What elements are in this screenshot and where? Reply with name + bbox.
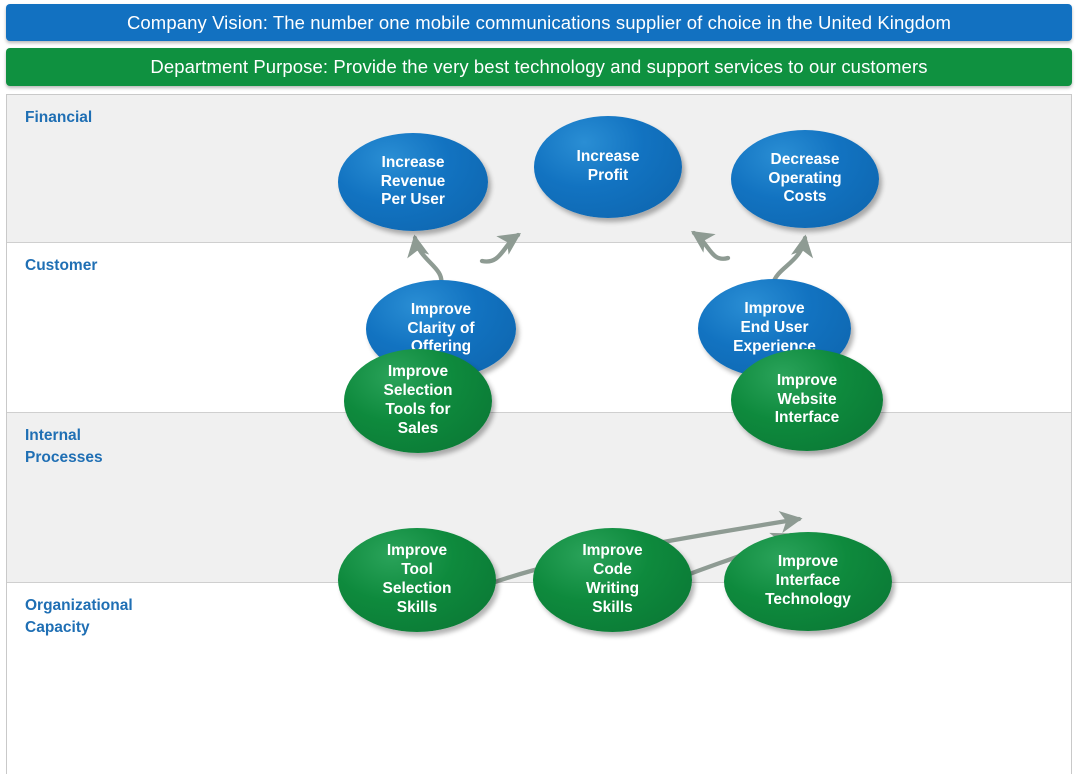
objective-label: Improve Tool Selection Skills [375, 542, 460, 618]
perspective-label-internal-processes: Internal Processes [25, 425, 103, 470]
company-vision-text: Company Vision: The number one mobile co… [127, 12, 951, 34]
objective-improve-selection-tools-for-sales[interactable]: Improve Selection Tools for Sales [344, 349, 492, 453]
perspective-label-financial: Financial [25, 107, 92, 129]
objective-label: Improve Selection Tools for Sales [376, 363, 461, 439]
perspective-band-customer: Customer [7, 243, 1071, 413]
objective-increase-profit[interactable]: Increase Profit [534, 116, 682, 218]
perspective-label-organizational-capacity: Organizational Capacity [25, 595, 133, 640]
objective-increase-revenue-per-user[interactable]: Increase Revenue Per User [338, 133, 488, 231]
company-vision-banner: Company Vision: The number one mobile co… [6, 4, 1072, 41]
department-purpose-banner: Department Purpose: Provide the very bes… [6, 48, 1072, 86]
objective-label: Improve Code Writing Skills [574, 542, 650, 618]
objective-improve-website-interface[interactable]: Improve Website Interface [731, 349, 883, 451]
objective-decrease-operating-costs[interactable]: Decrease Operating Costs [731, 130, 879, 228]
objective-improve-code-writing-skills[interactable]: Improve Code Writing Skills [533, 528, 692, 632]
perspective-band-internal-processes: Internal Processes [7, 413, 1071, 583]
objective-label: Improve Website Interface [767, 372, 848, 429]
perspective-label-customer: Customer [25, 255, 97, 277]
perspective-band-organizational-capacity: Organizational Capacity [7, 583, 1071, 775]
objective-improve-tool-selection-skills[interactable]: Improve Tool Selection Skills [338, 528, 496, 632]
department-purpose-text: Department Purpose: Provide the very bes… [150, 56, 927, 78]
objective-label: Increase Revenue Per User [373, 154, 454, 211]
strategy-map: Financial Customer Internal Processes Or… [6, 94, 1072, 774]
objective-label: Improve Interface Technology [757, 553, 859, 610]
objective-label: Decrease Operating Costs [760, 151, 849, 208]
objective-improve-interface-technology[interactable]: Improve Interface Technology [724, 532, 892, 631]
objective-label: Increase Profit [569, 148, 648, 186]
